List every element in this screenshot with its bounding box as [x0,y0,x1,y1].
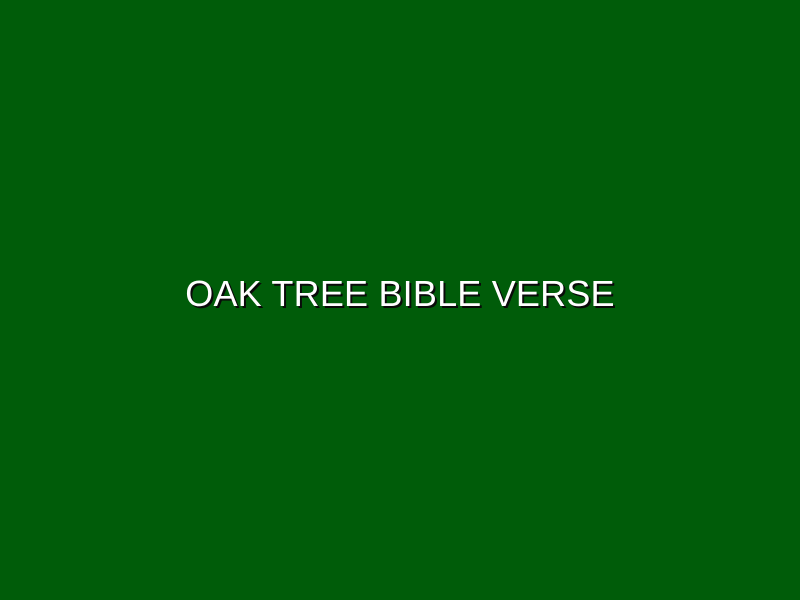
page-title: OAK TREE BIBLE VERSE [185,273,615,315]
banner-canvas: OAK TREE BIBLE VERSE [0,0,800,600]
title-block: OAK TREE BIBLE VERSE [0,273,800,315]
